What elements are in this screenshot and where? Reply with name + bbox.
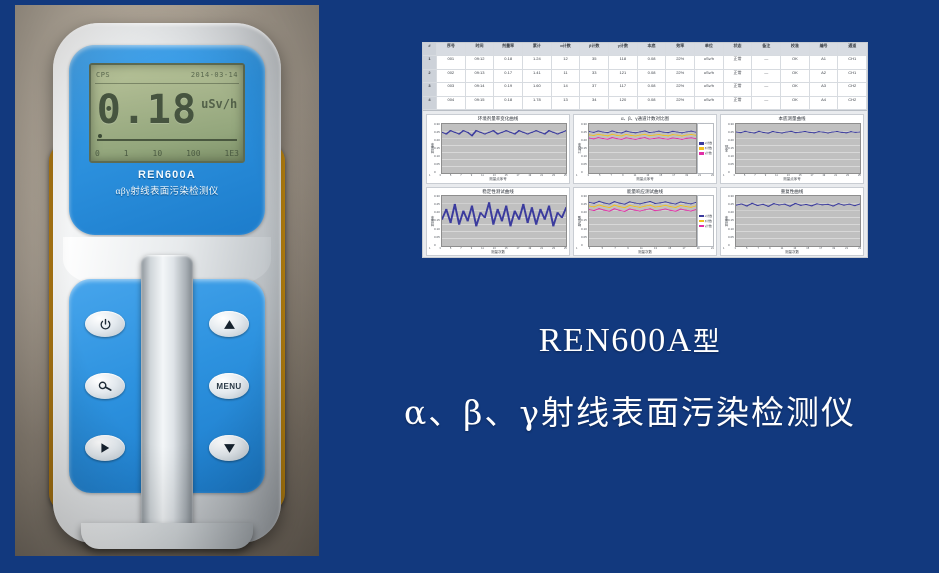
chart-data-point (658, 130, 660, 131)
spreadsheet-cell[interactable]: 22% (666, 70, 695, 82)
spreadsheet-cell[interactable]: 2 (423, 70, 437, 82)
chart-data-point (496, 209, 498, 210)
chart-data-point (496, 133, 498, 134)
chart-data-point (653, 138, 655, 139)
spreadsheet-cell[interactable]: 4 (423, 97, 437, 109)
chart-data-point (597, 137, 599, 138)
spreadsheet-cell[interactable]: uSv/h (695, 70, 724, 82)
spreadsheet-cell[interactable]: CH2 (838, 83, 867, 95)
spreadsheet-cell[interactable]: 0.08 (638, 70, 667, 82)
chart-data-point (611, 137, 613, 138)
spreadsheet-header-row: #序号时间剂量率累计α计数β计数γ计数本底效率单位状态备注校准编号通道 (423, 43, 867, 56)
chart-data-point (539, 131, 541, 132)
chart-data-point (488, 131, 490, 132)
spreadsheet-cell[interactable]: 0.18 (494, 56, 523, 68)
chart-data-point (826, 204, 828, 205)
chart-data-point (681, 135, 683, 136)
chart-plot-area (588, 195, 697, 247)
spreadsheet-cell[interactable]: CH2 (838, 97, 867, 109)
chart-y-tick: 0.20 (434, 139, 440, 142)
spreadsheet-row: 400409:150.181.7813341200.0822%uSv/h正常—O… (423, 97, 867, 110)
chart-data-point (690, 207, 692, 208)
chart-y-tick: 0.05 (728, 163, 734, 166)
chart-data-point (686, 137, 688, 138)
chart-data-point (526, 133, 528, 134)
chart-data-point (767, 132, 769, 133)
chart-data-point (810, 205, 812, 206)
chart-y-tick: 0.15 (581, 219, 587, 222)
spreadsheet-header-cell[interactable]: 单位 (695, 43, 724, 55)
chart-data-point (762, 132, 764, 133)
chart-data-point (676, 138, 678, 139)
chart-data-point (492, 130, 494, 131)
chart-data-point (606, 135, 608, 136)
spreadsheet-header-cell[interactable]: 序号 (437, 43, 466, 55)
chart-data-point (772, 131, 774, 132)
spreadsheet-cell[interactable]: 004 (437, 97, 466, 109)
chart-svg (442, 196, 566, 246)
chart-y-tick: 0.20 (728, 211, 734, 214)
chart-title: 稳定性测试曲线 (427, 188, 569, 196)
chart-y-tick: 0 (728, 244, 734, 247)
chart-data-point (531, 131, 533, 132)
spreadsheet-cell[interactable]: OK (781, 56, 810, 68)
chart-svg (589, 124, 696, 174)
chart-y-tick: 0.25 (434, 131, 440, 134)
chart-data-point (639, 131, 641, 132)
spreadsheet-header-cell[interactable]: γ计数 (609, 43, 638, 55)
chart-data-point (680, 205, 682, 206)
chart-data-point (818, 131, 820, 132)
chart-y-tick: 0.15 (728, 147, 734, 150)
chart-data-point (620, 138, 622, 139)
chart-data-point (561, 217, 563, 218)
chart-data-point (620, 132, 622, 133)
chart-data-point (634, 138, 636, 139)
chart-legend-item[interactable]: α计数 (699, 214, 713, 218)
spreadsheet-cell[interactable]: 0.19 (494, 83, 523, 95)
chart-legend-item[interactable]: β计数 (699, 146, 713, 150)
chart-legend-item[interactable]: γ计数 (699, 151, 713, 155)
chart-legend-item[interactable]: γ计数 (699, 224, 713, 228)
spreadsheet-cell[interactable]: 13 (552, 97, 581, 109)
chart-data-point (778, 205, 780, 206)
chart-data-point (608, 204, 610, 205)
spreadsheet-cell[interactable]: — (752, 56, 781, 68)
chart-data-point (664, 209, 666, 210)
chart-data-point (859, 131, 860, 132)
chart-data-point (667, 132, 669, 133)
chart-y-tick: 0 (581, 244, 587, 247)
chart-title: α、β、γ通道计数对比图 (574, 115, 716, 123)
spreadsheet-header-cell[interactable]: 效率 (666, 43, 695, 55)
chart-data-point (598, 208, 600, 209)
chart-data-point (639, 211, 641, 212)
spreadsheet-cell[interactable]: 09:15 (466, 97, 495, 109)
chart-data-point (548, 130, 550, 131)
chart-data-point (535, 224, 537, 225)
chart-data-point (630, 138, 632, 139)
spreadsheet-cell[interactable]: 09:13 (466, 70, 495, 82)
chart-data-point (816, 203, 818, 204)
chart-data-point (518, 130, 520, 131)
chart-y-tick: 0.10 (434, 155, 440, 158)
chart-data-point (813, 132, 815, 133)
spreadsheet-cell[interactable]: 001 (437, 56, 466, 68)
chart-y-ticks: 0.300.250.200.150.100.050 (728, 195, 735, 247)
spreadsheet-header-cell[interactable]: 备注 (752, 43, 781, 55)
chart-data-point (676, 131, 678, 132)
spreadsheet-cell[interactable]: 35 (580, 56, 609, 68)
spreadsheet-cell[interactable]: 3 (423, 83, 437, 95)
chart-data-point (634, 132, 636, 133)
spreadsheet-header-cell[interactable]: 累计 (523, 43, 552, 55)
chart-data-point (556, 212, 558, 213)
chart-data-point (518, 219, 520, 220)
chart-data-point (458, 224, 460, 225)
chart-data-point (644, 137, 646, 138)
spreadsheet-cell[interactable]: — (752, 70, 781, 82)
chart-data-point (639, 207, 641, 208)
spreadsheet-cell[interactable]: 正常 (724, 97, 753, 109)
spreadsheet-cell[interactable]: A4 (810, 97, 839, 109)
chart-data-point (644, 206, 646, 207)
chart-x-axis-label: 测量次数 (721, 251, 863, 256)
chart-series-line (736, 203, 860, 206)
spreadsheet-cell[interactable]: 22% (666, 83, 695, 95)
chart-body: 剂量率0.300.250.200.150.100.050 (721, 195, 863, 248)
chart-data-point (667, 138, 669, 139)
chart-data-point (488, 202, 490, 203)
chart-y-tick: 0.10 (728, 155, 734, 158)
spreadsheet-cell[interactable]: 118 (609, 56, 638, 68)
chart-data-point (695, 131, 696, 132)
chart-data-point (653, 134, 655, 135)
spreadsheet-header-cell[interactable]: β计数 (580, 43, 609, 55)
spreadsheet-cell[interactable]: uSv/h (695, 56, 724, 68)
spreadsheet-header-cell[interactable]: α计数 (552, 43, 581, 55)
chart-y-tick: 0.25 (434, 203, 440, 206)
chart-data-point (593, 131, 595, 132)
chart-y-tick: 0.15 (434, 147, 440, 150)
chart-data-point (522, 131, 524, 132)
spreadsheet-cell[interactable]: — (752, 83, 781, 95)
chart-y-ticks: 0.300.250.200.150.100.050 (581, 195, 588, 247)
chart-data-point (672, 137, 674, 138)
spreadsheet-cell[interactable]: 0.08 (638, 83, 667, 95)
chart-legend-label: β计数 (705, 146, 712, 150)
chart-legend-item[interactable]: β计数 (699, 219, 713, 223)
chart-y-tick: 0.30 (434, 123, 440, 126)
spreadsheet-cell[interactable]: 22% (666, 97, 695, 109)
chart-data-point (565, 130, 566, 131)
spreadsheet-cell[interactable]: — (752, 97, 781, 109)
chart-data-point (526, 222, 528, 223)
chart-card[interactable]: 环境剂量率变化曲线剂量率0.300.250.200.150.100.050135… (426, 114, 570, 184)
chart-data-point (639, 203, 641, 204)
chart-data-point (832, 206, 834, 207)
chart-data-point (799, 131, 801, 132)
chart-card[interactable]: 本底测量曲线本底0.300.250.200.150.100.0501357911… (720, 114, 864, 184)
spreadsheet-cell[interactable]: 117 (609, 83, 638, 95)
chart-y-axis-label: 响应值 (575, 216, 581, 227)
chart-data-point (589, 206, 590, 207)
chart-plot-area (441, 123, 567, 175)
spreadsheet-cell[interactable]: 33 (580, 70, 609, 82)
chart-data-point (672, 130, 674, 131)
spreadsheet-cell[interactable]: 正常 (724, 56, 753, 68)
chart-data-point (669, 206, 671, 207)
chart-data-point (552, 225, 554, 226)
chart-legend-label: α计数 (705, 141, 712, 145)
chart-data-point (543, 133, 545, 134)
chart-data-point (492, 224, 494, 225)
chart-data-point (773, 203, 775, 204)
chart-data-point (674, 207, 676, 208)
chart-data-point (854, 131, 856, 132)
spreadsheet-header-cell[interactable]: 编号 (810, 43, 839, 55)
spreadsheet-cell[interactable]: 09:14 (466, 83, 495, 95)
spreadsheet-cell[interactable]: 0.08 (638, 56, 667, 68)
chart-data-point (552, 131, 554, 132)
spreadsheet-cell[interactable]: uSv/h (695, 83, 724, 95)
chart-data-point (462, 211, 464, 212)
chart-y-tick: 0.25 (581, 203, 587, 206)
chart-data-point (695, 134, 696, 135)
chart-legend-label: β计数 (705, 219, 712, 223)
title-block: REN600A型 α、β、γ射线表面污染检测仪 (330, 320, 930, 434)
chart-data-point (822, 131, 824, 132)
chart-y-tick: 0.10 (581, 155, 587, 158)
chart-data-point (843, 205, 845, 206)
chart-data-point (462, 130, 464, 131)
chart-data-point (789, 206, 791, 207)
chart-data-point (740, 204, 742, 205)
spreadsheet-cell[interactable]: OK (781, 70, 810, 82)
chart-data-point (608, 207, 610, 208)
chart-data-point (639, 134, 641, 135)
chart-legend-swatch (699, 220, 704, 223)
chart-data-point (449, 222, 451, 223)
spreadsheet-cell[interactable]: 正常 (724, 83, 753, 95)
chart-data-point (629, 201, 631, 202)
chart-data-point (539, 209, 541, 210)
chart-y-tick: 0.15 (434, 219, 440, 222)
chart-y-tick: 0.25 (728, 131, 734, 134)
chart-data-point (616, 134, 618, 135)
chart-data-point (629, 209, 631, 210)
chart-data-point (672, 134, 674, 135)
chart-data-point (654, 203, 656, 204)
chart-y-tick: 0.30 (581, 123, 587, 126)
chart-data-point (776, 131, 778, 132)
spreadsheet-cell[interactable]: 09:12 (466, 56, 495, 68)
chart-legend-item[interactable]: α计数 (699, 141, 713, 145)
spreadsheet-cell[interactable]: 12 (552, 56, 581, 68)
chart-data-point (630, 131, 632, 132)
chart-data-point (648, 135, 650, 136)
chart-data-point (624, 207, 626, 208)
chart-data-point (475, 130, 477, 131)
chart-y-tick: 0.25 (581, 131, 587, 134)
spreadsheet-header-cell[interactable]: 通道 (838, 43, 867, 55)
chart-data-point (593, 138, 595, 139)
chart-y-tick: 0.15 (728, 219, 734, 222)
spreadsheet-cell[interactable]: 002 (437, 70, 466, 82)
chart-data-point (589, 209, 590, 210)
chart-data-point (804, 131, 806, 132)
chart-data-point (634, 135, 636, 136)
chart-y-tick: 0.30 (434, 195, 440, 198)
spreadsheet-cell[interactable]: 11 (552, 70, 581, 82)
spreadsheet-header-cell[interactable]: 本底 (638, 43, 667, 55)
chart-card[interactable]: 重复性曲线剂量率0.300.250.200.150.100.0501357911… (720, 187, 864, 257)
chart-data-point (598, 205, 600, 206)
photo-vignette (15, 5, 319, 556)
chart-data-point (690, 134, 692, 135)
chart-data-point (659, 206, 661, 207)
spreadsheet-cell[interactable]: 0.17 (494, 70, 523, 82)
chart-data-point (845, 132, 847, 133)
chart-data-point (479, 131, 481, 132)
spreadsheet-cell[interactable]: CH1 (838, 56, 867, 68)
chart-data-point (658, 134, 660, 135)
spreadsheet-header-cell[interactable]: 剂量率 (494, 43, 523, 55)
spreadsheet-cell[interactable]: OK (781, 97, 810, 109)
chart-data-point (785, 131, 787, 132)
chart-data-point (681, 138, 683, 139)
chart-data-point (669, 210, 671, 211)
chart-data-point (681, 132, 683, 133)
chart-data-point (669, 203, 671, 204)
chart-data-point (602, 138, 604, 139)
spreadsheet-cell[interactable]: CH1 (838, 70, 867, 82)
chart-y-tick: 0.05 (728, 236, 734, 239)
chart-data-point (686, 134, 688, 135)
chart-title: 重复性曲线 (721, 188, 863, 196)
spreadsheet-cell[interactable]: 121 (609, 70, 638, 82)
chart-data-point (783, 204, 785, 205)
chart-card[interactable]: α、β、γ通道计数对比图计数率0.300.250.200.150.100.050… (573, 114, 717, 184)
spreadsheet-cell[interactable]: 1.41 (523, 70, 552, 82)
chart-data-point (514, 133, 516, 134)
chart-data-point (644, 202, 646, 203)
chart-data-point (522, 204, 524, 205)
chart-card[interactable]: 稳定性测试曲线剂量率0.300.250.200.150.100.05013579… (426, 187, 570, 257)
spreadsheet-cell[interactable]: 1.24 (523, 56, 552, 68)
chart-title: 环境剂量率变化曲线 (427, 115, 569, 123)
chart-data-point (690, 203, 692, 204)
chart-y-tick: 0.30 (581, 195, 587, 198)
chart-card[interactable]: 能量响应测试曲线响应值0.300.250.200.150.100.050α计数β… (573, 187, 717, 257)
spreadsheet-cell[interactable]: OK (781, 83, 810, 95)
spreadsheet-cell[interactable]: 120 (609, 97, 638, 109)
chart-y-axis-label: 剂量率 (428, 216, 434, 227)
spreadsheet-cell[interactable]: 14 (552, 83, 581, 95)
chart-data-point (543, 219, 545, 220)
spreadsheet-cell[interactable]: A3 (810, 83, 839, 95)
chart-data-point (695, 202, 696, 203)
spreadsheet-cell[interactable]: 1.60 (523, 83, 552, 95)
chart-data-point (827, 132, 829, 133)
spreadsheet-cell[interactable]: A2 (810, 70, 839, 82)
chart-series-line (442, 203, 566, 226)
chart-data-point (606, 132, 608, 133)
chart-data-point (613, 205, 615, 206)
chart-data-point (603, 203, 605, 204)
chart-data-point (662, 131, 664, 132)
chart-data-point (598, 201, 600, 202)
chart-data-point (565, 207, 566, 208)
chart-data-point (613, 201, 615, 202)
product-model-title: REN600A型 (330, 320, 930, 360)
chart-legend-swatch (699, 225, 704, 228)
product-model-name: REN600A (539, 322, 693, 359)
spreadsheet-header-cell[interactable]: 状态 (724, 43, 753, 55)
chart-data-point (695, 206, 696, 207)
chart-data-point (644, 130, 646, 131)
chart-data-point (514, 211, 516, 212)
chart-data-point (749, 131, 751, 132)
spreadsheet-cell[interactable]: 正常 (724, 70, 753, 82)
chart-legend-label: α计数 (705, 214, 712, 218)
spreadsheet-row: 200209:130.171.4111331210.0822%uSv/h正常—O… (423, 70, 867, 83)
spreadsheet-cell[interactable]: 003 (437, 83, 466, 95)
spreadsheet-cell[interactable]: 1.78 (523, 97, 552, 109)
chart-data-point (654, 210, 656, 211)
spreadsheet-cell[interactable]: 0.08 (638, 97, 667, 109)
chart-data-point (744, 130, 746, 131)
spreadsheet-cell[interactable]: 22% (666, 56, 695, 68)
spreadsheet-cell[interactable]: 1 (423, 56, 437, 68)
chart-data-point (685, 203, 687, 204)
chart-y-axis-label: 剂量率 (428, 143, 434, 154)
spreadsheet-cell[interactable]: uSv/h (695, 97, 724, 109)
chart-data-point (680, 209, 682, 210)
chart-y-tick: 0.20 (581, 211, 587, 214)
spreadsheet-cell[interactable]: A1 (810, 56, 839, 68)
spreadsheet-cell[interactable]: 37 (580, 83, 609, 95)
chart-data-point (616, 131, 618, 132)
chart-y-ticks: 0.300.250.200.150.100.050 (434, 123, 441, 175)
chart-data-point (505, 130, 507, 131)
spreadsheet-cell[interactable]: 0.18 (494, 97, 523, 109)
chart-data-point (853, 205, 855, 206)
chart-data-point (805, 204, 807, 205)
spreadsheet-header-cell[interactable]: # (423, 43, 437, 55)
chart-y-tick: 0.25 (728, 203, 734, 206)
chart-y-ticks: 0.300.250.200.150.100.050 (434, 195, 441, 247)
chart-data-point (781, 132, 783, 133)
chart-data-point (531, 207, 533, 208)
chart-data-point (618, 210, 620, 211)
chart-data-point (848, 204, 850, 205)
chart-legend-swatch (699, 152, 704, 155)
chart-data-point (442, 219, 443, 220)
chart-data-point (739, 132, 741, 133)
chart-plot-area (588, 123, 697, 175)
chart-data-point (606, 138, 608, 139)
chart-data-point (649, 201, 651, 202)
spreadsheet-header-cell[interactable]: 时间 (466, 43, 495, 55)
chart-data-point (695, 209, 696, 210)
chart-data-point (501, 131, 503, 132)
spreadsheet-header-cell[interactable]: 校准 (781, 43, 810, 55)
chart-title: 能量响应测试曲线 (574, 188, 716, 196)
chart-series-line (589, 134, 696, 136)
spreadsheet-cell[interactable]: 34 (580, 97, 609, 109)
chart-data-point (509, 131, 511, 132)
